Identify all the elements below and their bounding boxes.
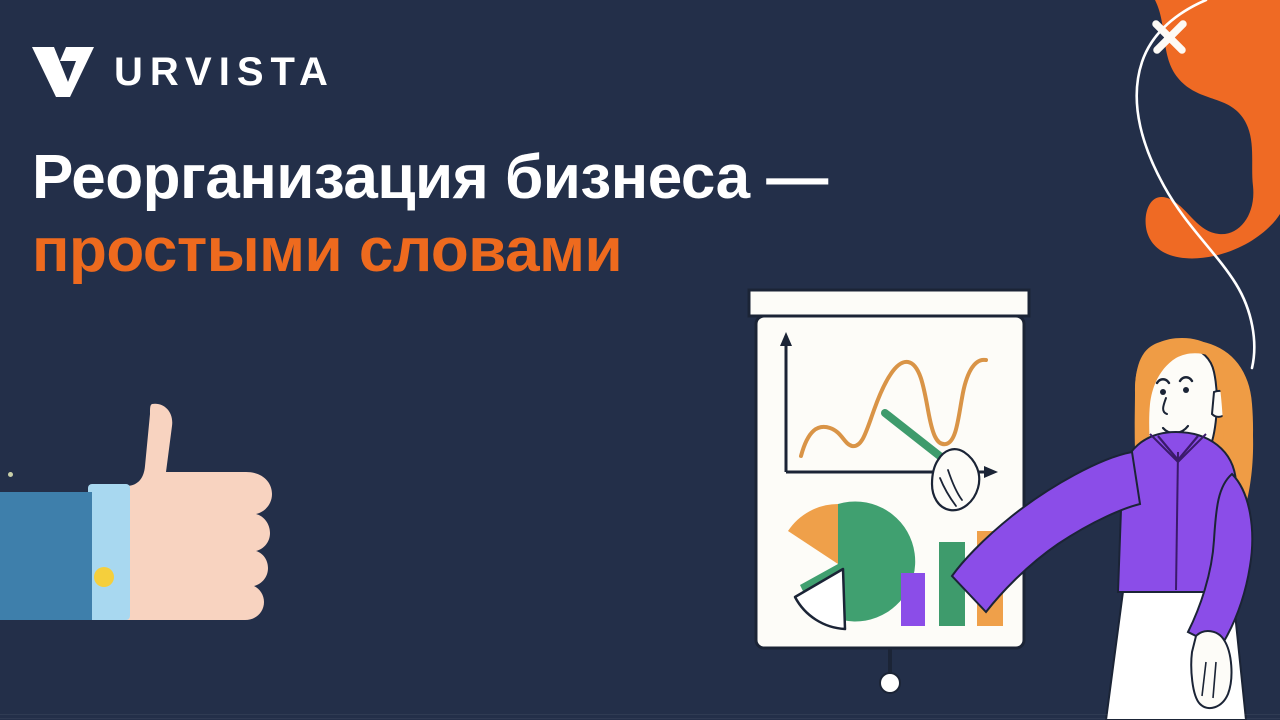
eye-right	[1183, 387, 1189, 393]
bottom-rule-secondary	[0, 718, 1280, 719]
bottom-rule	[0, 714, 1280, 715]
eye-left	[1160, 389, 1166, 395]
presentation-slide: URVISTA Реорганизация бизнеса — простыми…	[0, 0, 1280, 720]
hand-left	[932, 449, 979, 510]
hand-right	[1191, 631, 1231, 708]
woman-presenter	[0, 0, 1280, 720]
arm-left	[952, 452, 1140, 612]
